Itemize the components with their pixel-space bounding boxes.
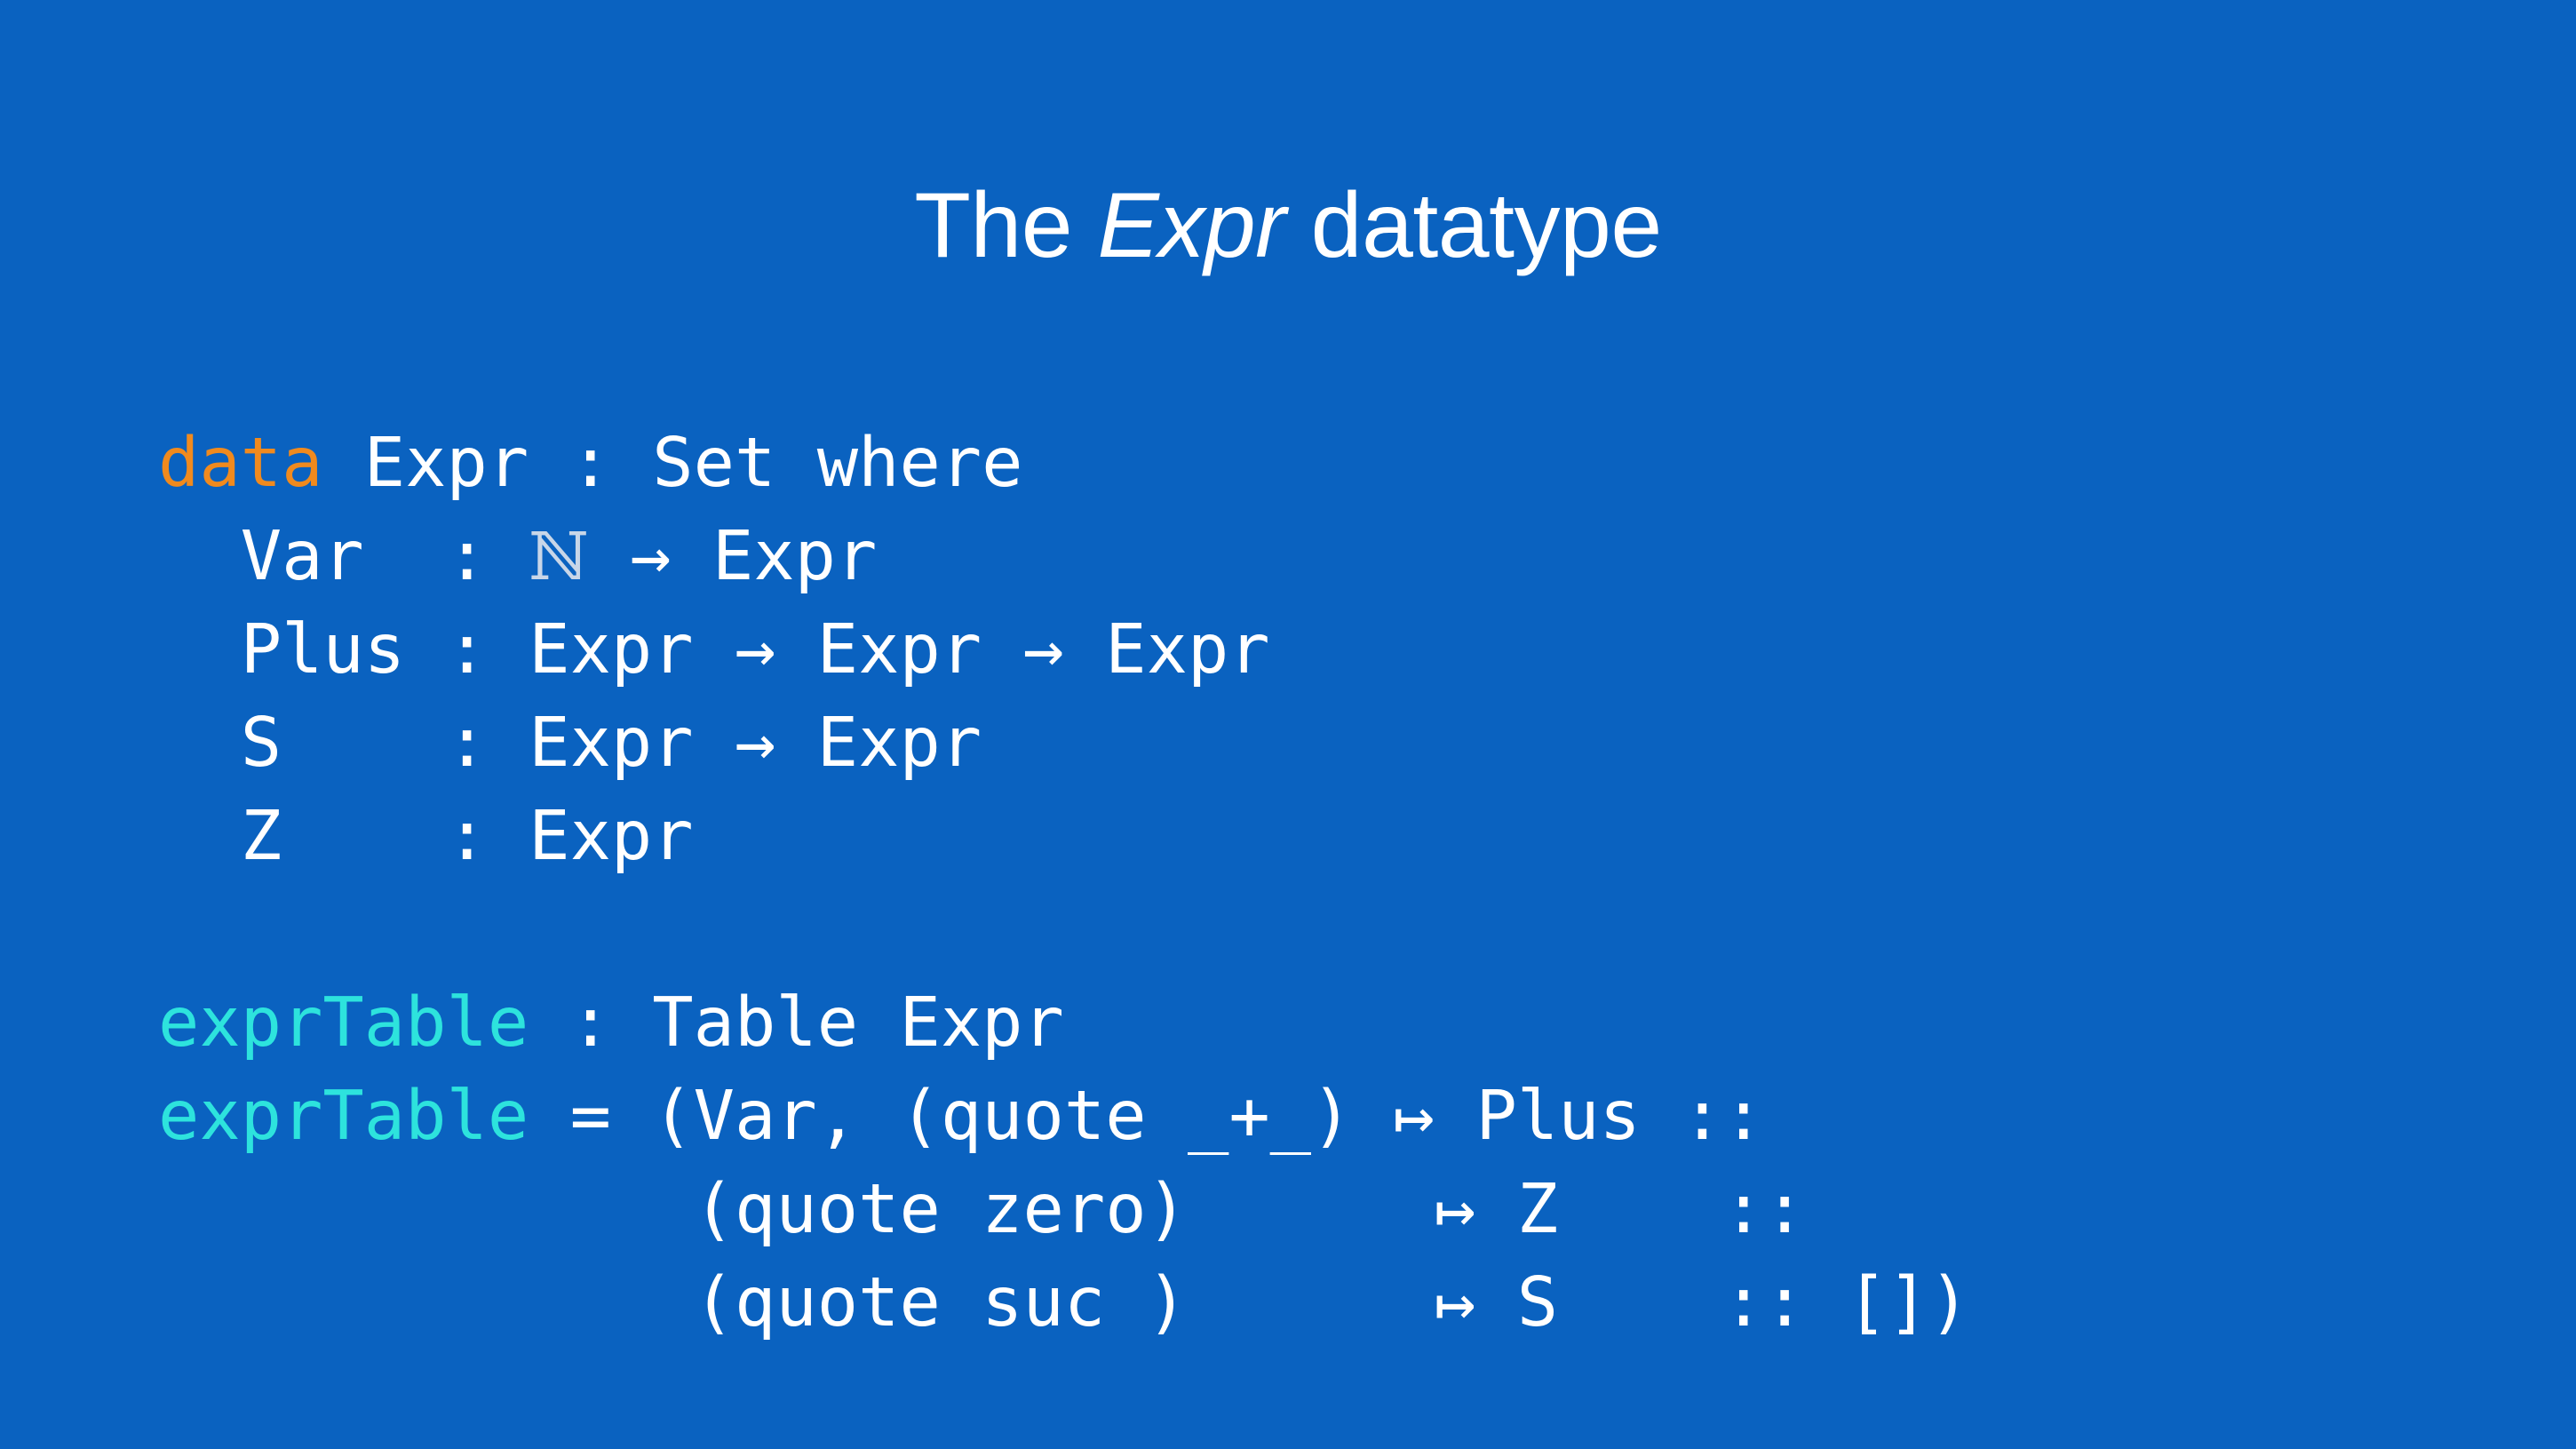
line-exprtable-def-2-token-0: (quote zero) ↦ Z :: — [158, 1170, 1805, 1249]
line-ctor-var-token-0: Var : — [158, 517, 529, 596]
line-exprtable-def-1-token-0: exprTable — [158, 1077, 529, 1156]
line-ctor-z-token-0: Z : Expr — [158, 797, 694, 876]
line-exprtable-def-1-token-1: = (Var, (quote _+_) ↦ Plus :: — [529, 1077, 1764, 1156]
line-ctor-z: Z : Expr — [158, 790, 1970, 883]
line-ctor-var: Var : ℕ → Expr — [158, 510, 1970, 603]
line-data-decl-token-0: data — [158, 424, 322, 503]
slide-title-container: The Expr datatype — [0, 114, 2576, 338]
line-exprtable-def-2: (quote zero) ↦ Z :: — [158, 1163, 1970, 1256]
line-data-decl-token-1: Expr : Set where — [322, 424, 1022, 503]
line-exprtable-def-3-token-0: (quote suc ) ↦ S :: []) — [158, 1263, 1970, 1342]
title-prefix: The — [914, 174, 1097, 277]
line-exprtable-sig-token-0: exprTable — [158, 983, 529, 1063]
code-block: data Expr : Set where Var : ℕ → Expr Plu… — [158, 417, 1970, 1349]
line-ctor-s-token-0: S : Expr → Expr — [158, 704, 982, 783]
line-ctor-plus: Plus : Expr → Expr → Expr — [158, 603, 1970, 697]
line-exprtable-def-1: exprTable = (Var, (quote _+_) ↦ Plus :: — [158, 1070, 1970, 1163]
line-exprtable-sig: exprTable : Table Expr — [158, 976, 1970, 1070]
line-ctor-var-token-2: → Expr — [589, 517, 878, 596]
line-data-decl: data Expr : Set where — [158, 417, 1970, 510]
slide: The Expr datatype data Expr : Set where … — [0, 0, 2576, 1449]
page-title: The Expr datatype — [914, 176, 1661, 275]
line-ctor-s: S : Expr → Expr — [158, 697, 1970, 790]
title-suffix: datatype — [1285, 174, 1661, 277]
line-exprtable-def-3: (quote suc ) ↦ S :: []) — [158, 1256, 1970, 1349]
title-emphasis: Expr — [1097, 174, 1285, 277]
line-blank — [158, 883, 1970, 976]
line-ctor-var-token-1: ℕ — [529, 519, 589, 595]
line-exprtable-sig-token-1: : Table Expr — [529, 983, 1064, 1063]
line-ctor-plus-token-0: Plus : Expr → Expr → Expr — [158, 610, 1270, 689]
